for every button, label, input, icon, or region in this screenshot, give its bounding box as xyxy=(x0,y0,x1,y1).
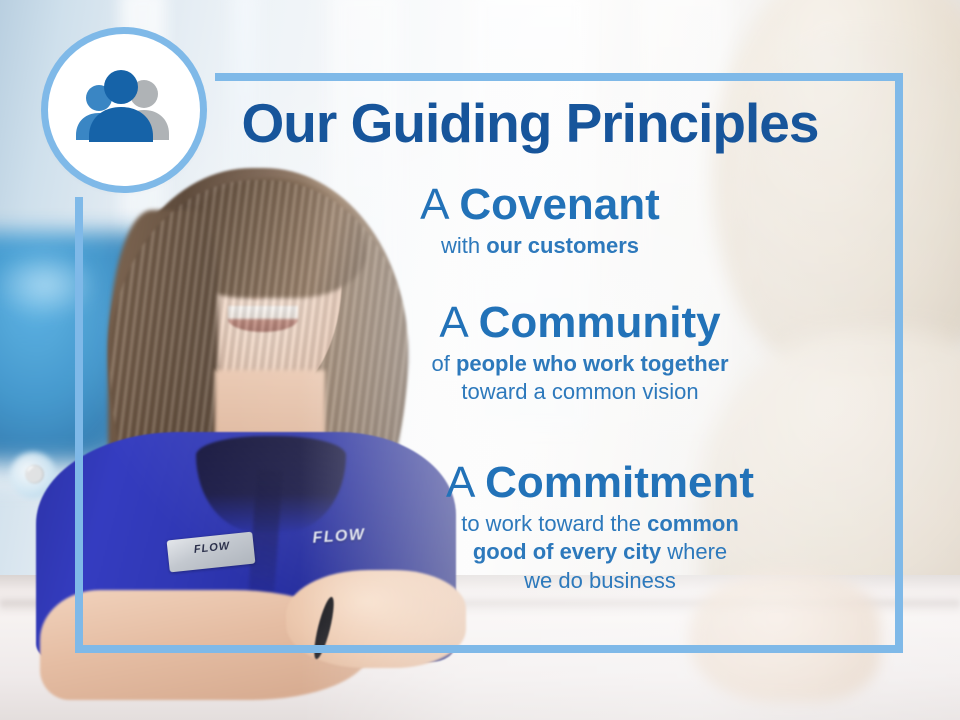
subtext-line-2: good of every city where xyxy=(290,538,910,566)
subtext-plain: to work toward the xyxy=(461,511,647,536)
principle-community-subtext: of people who work together toward a com… xyxy=(270,350,890,406)
principle-article: A xyxy=(446,458,485,507)
people-group-icon xyxy=(74,68,174,152)
principle-article: A xyxy=(420,180,459,229)
subtext-plain: of xyxy=(431,351,455,376)
principle-covenant: A Covenant with our customers xyxy=(230,182,850,260)
subtext-bold: good of every city xyxy=(473,539,661,564)
subtext-bold: people who work together xyxy=(456,351,729,376)
frame-left-edge xyxy=(75,197,83,653)
principle-commitment-heading: A Commitment xyxy=(290,460,910,506)
subtext-line-3: we do business xyxy=(290,567,910,595)
car-emblem-mark: ⚪ xyxy=(24,466,42,484)
principle-covenant-subtext: with our customers xyxy=(230,232,850,260)
subtext-line-1: of people who work together xyxy=(270,350,890,378)
guiding-principles-graphic: ⚪ FLOW FLOW xyxy=(0,0,960,720)
subtext-bold: common xyxy=(647,511,739,536)
principle-keyword: Community xyxy=(479,298,721,347)
principle-covenant-heading: A Covenant xyxy=(230,182,850,228)
subtext-bold: our customers xyxy=(486,233,639,258)
page-title: Our Guiding Principles xyxy=(200,96,860,151)
text-column: Our Guiding Principles A Covenant with o… xyxy=(200,0,890,720)
subtext-plain: where xyxy=(661,539,727,564)
subtext-line-1: to work toward the common xyxy=(290,510,910,538)
people-icon-badge xyxy=(48,34,200,186)
principle-article: A xyxy=(439,298,478,347)
principle-commitment: A Commitment to work toward the common g… xyxy=(290,460,910,595)
subtext-plain: with xyxy=(441,233,486,258)
principle-keyword: Covenant xyxy=(459,180,659,229)
principle-commitment-subtext: to work toward the common good of every … xyxy=(290,510,910,594)
car-highlight xyxy=(0,250,100,320)
principle-community: A Community of people who work together … xyxy=(270,300,890,407)
principle-keyword: Commitment xyxy=(485,458,754,507)
principle-community-heading: A Community xyxy=(270,300,890,346)
subtext-line-2: toward a common vision xyxy=(270,378,890,406)
